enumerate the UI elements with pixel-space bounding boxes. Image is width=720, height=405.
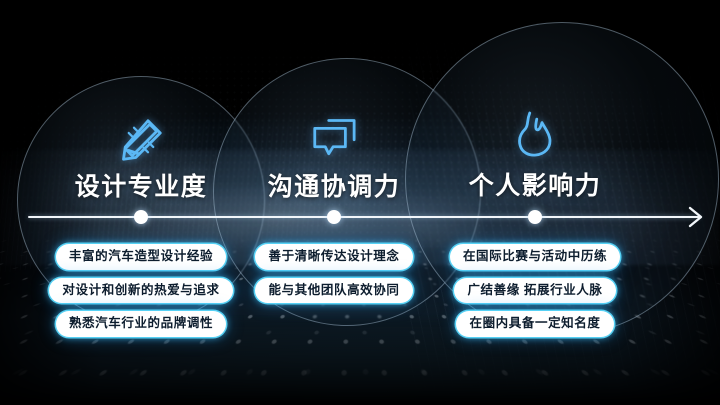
pen-ruler-icon — [113, 112, 169, 168]
tag-pill[interactable]: 在国际比赛与活动中历练 — [450, 244, 620, 270]
tag-pill[interactable]: 丰富的汽车造型设计经验 — [56, 244, 226, 270]
tag-pill[interactable]: 对设计和创新的热爱与追求 — [49, 278, 232, 304]
tag-pill[interactable]: 在圈内具备一定知名度 — [456, 311, 613, 337]
flame-icon — [507, 106, 563, 162]
slide-canvas: 设计专业度 丰富的汽车造型设计经验 对设计和创新的热爱与追求 熟悉汽车行业的品牌… — [0, 0, 720, 405]
tag-list: 在国际比赛与活动中历练 广结善缘 拓展行业人脉 在圈内具备一定知名度 — [404, 244, 666, 337]
tag-pill[interactable]: 熟悉汽车行业的品牌调性 — [56, 311, 226, 337]
tag-pill[interactable]: 善于清晰传达设计理念 — [255, 244, 412, 270]
chat-bubbles-icon — [306, 110, 362, 166]
tag-pill[interactable]: 广结善缘 拓展行业人脉 — [454, 278, 615, 304]
section-personal-influence: 个人影响力 在国际比赛与活动中历练 广结善缘 拓展行业人脉 在圈内具备一定知名度 — [404, 0, 666, 405]
tag-pill[interactable]: 能与其他团队高效协同 — [255, 278, 412, 304]
section-title: 个人影响力 — [404, 166, 666, 202]
